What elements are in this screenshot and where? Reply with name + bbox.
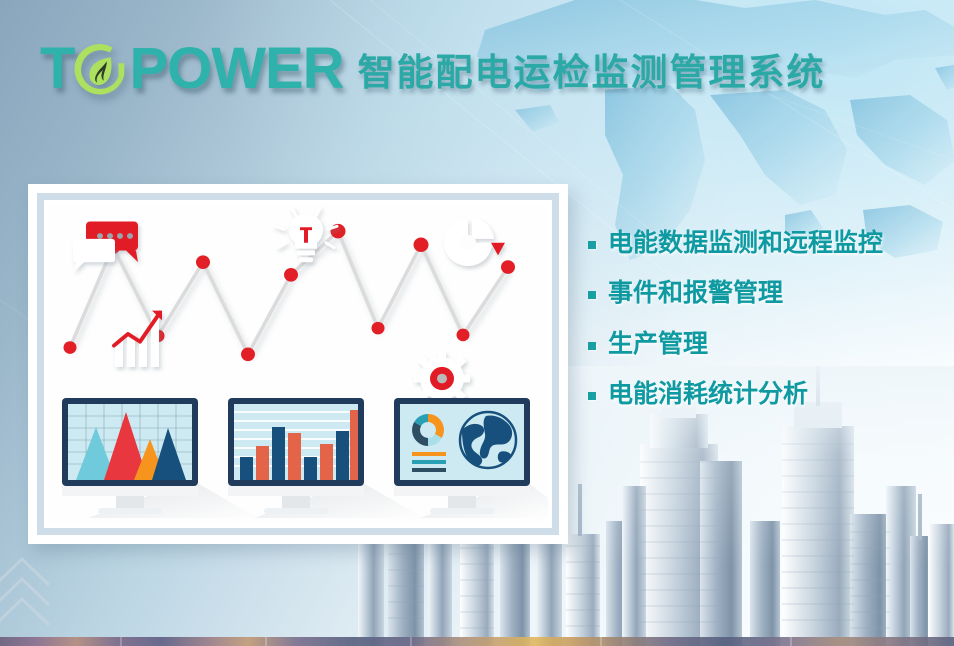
feature-list: 电能数据监测和远程监控 事件和报警管理 生产管理 电能消耗统计分析	[588, 228, 938, 429]
feature-label: 生产管理	[608, 329, 708, 360]
list-item: 电能消耗统计分析	[588, 379, 938, 410]
illustration-panel	[28, 184, 568, 544]
square-bullet-icon	[588, 342, 596, 350]
bar-chart-arrow-icon	[114, 311, 162, 367]
logo-word-power: POWER	[129, 40, 343, 98]
list-item: 事件和报警管理	[588, 278, 938, 309]
square-bullet-icon	[588, 241, 596, 249]
brand-logo[interactable]: T POWER	[40, 38, 344, 100]
bottom-photo-strip	[0, 637, 954, 646]
leaf-in-circle-icon	[70, 38, 132, 100]
list-item: 生产管理	[588, 329, 938, 360]
square-bullet-icon	[588, 392, 596, 400]
monitor-row	[48, 394, 548, 518]
square-bullet-icon	[588, 291, 596, 299]
illustration-frame	[37, 193, 559, 535]
illustration-canvas	[48, 204, 548, 524]
page-title: 智能配电运检监测管理系统	[358, 42, 826, 96]
header: T POWER 智能配电运检监测管理系统	[40, 38, 826, 100]
promo-banner: T POWER 智能配电运检监测管理系统 电能数据监测和远程监控 事件和报警管理…	[0, 0, 954, 646]
pie-chart-icon	[444, 218, 505, 266]
logo-letter-t: T	[40, 40, 74, 98]
feature-label: 事件和报警管理	[608, 278, 783, 309]
feature-label: 电能数据监测和远程监控	[608, 228, 883, 259]
feature-label: 电能消耗统计分析	[608, 379, 808, 410]
list-item: 电能数据监测和远程监控	[588, 228, 938, 259]
lightbulb-icon	[275, 208, 337, 262]
chevron-watermark	[0, 545, 80, 640]
